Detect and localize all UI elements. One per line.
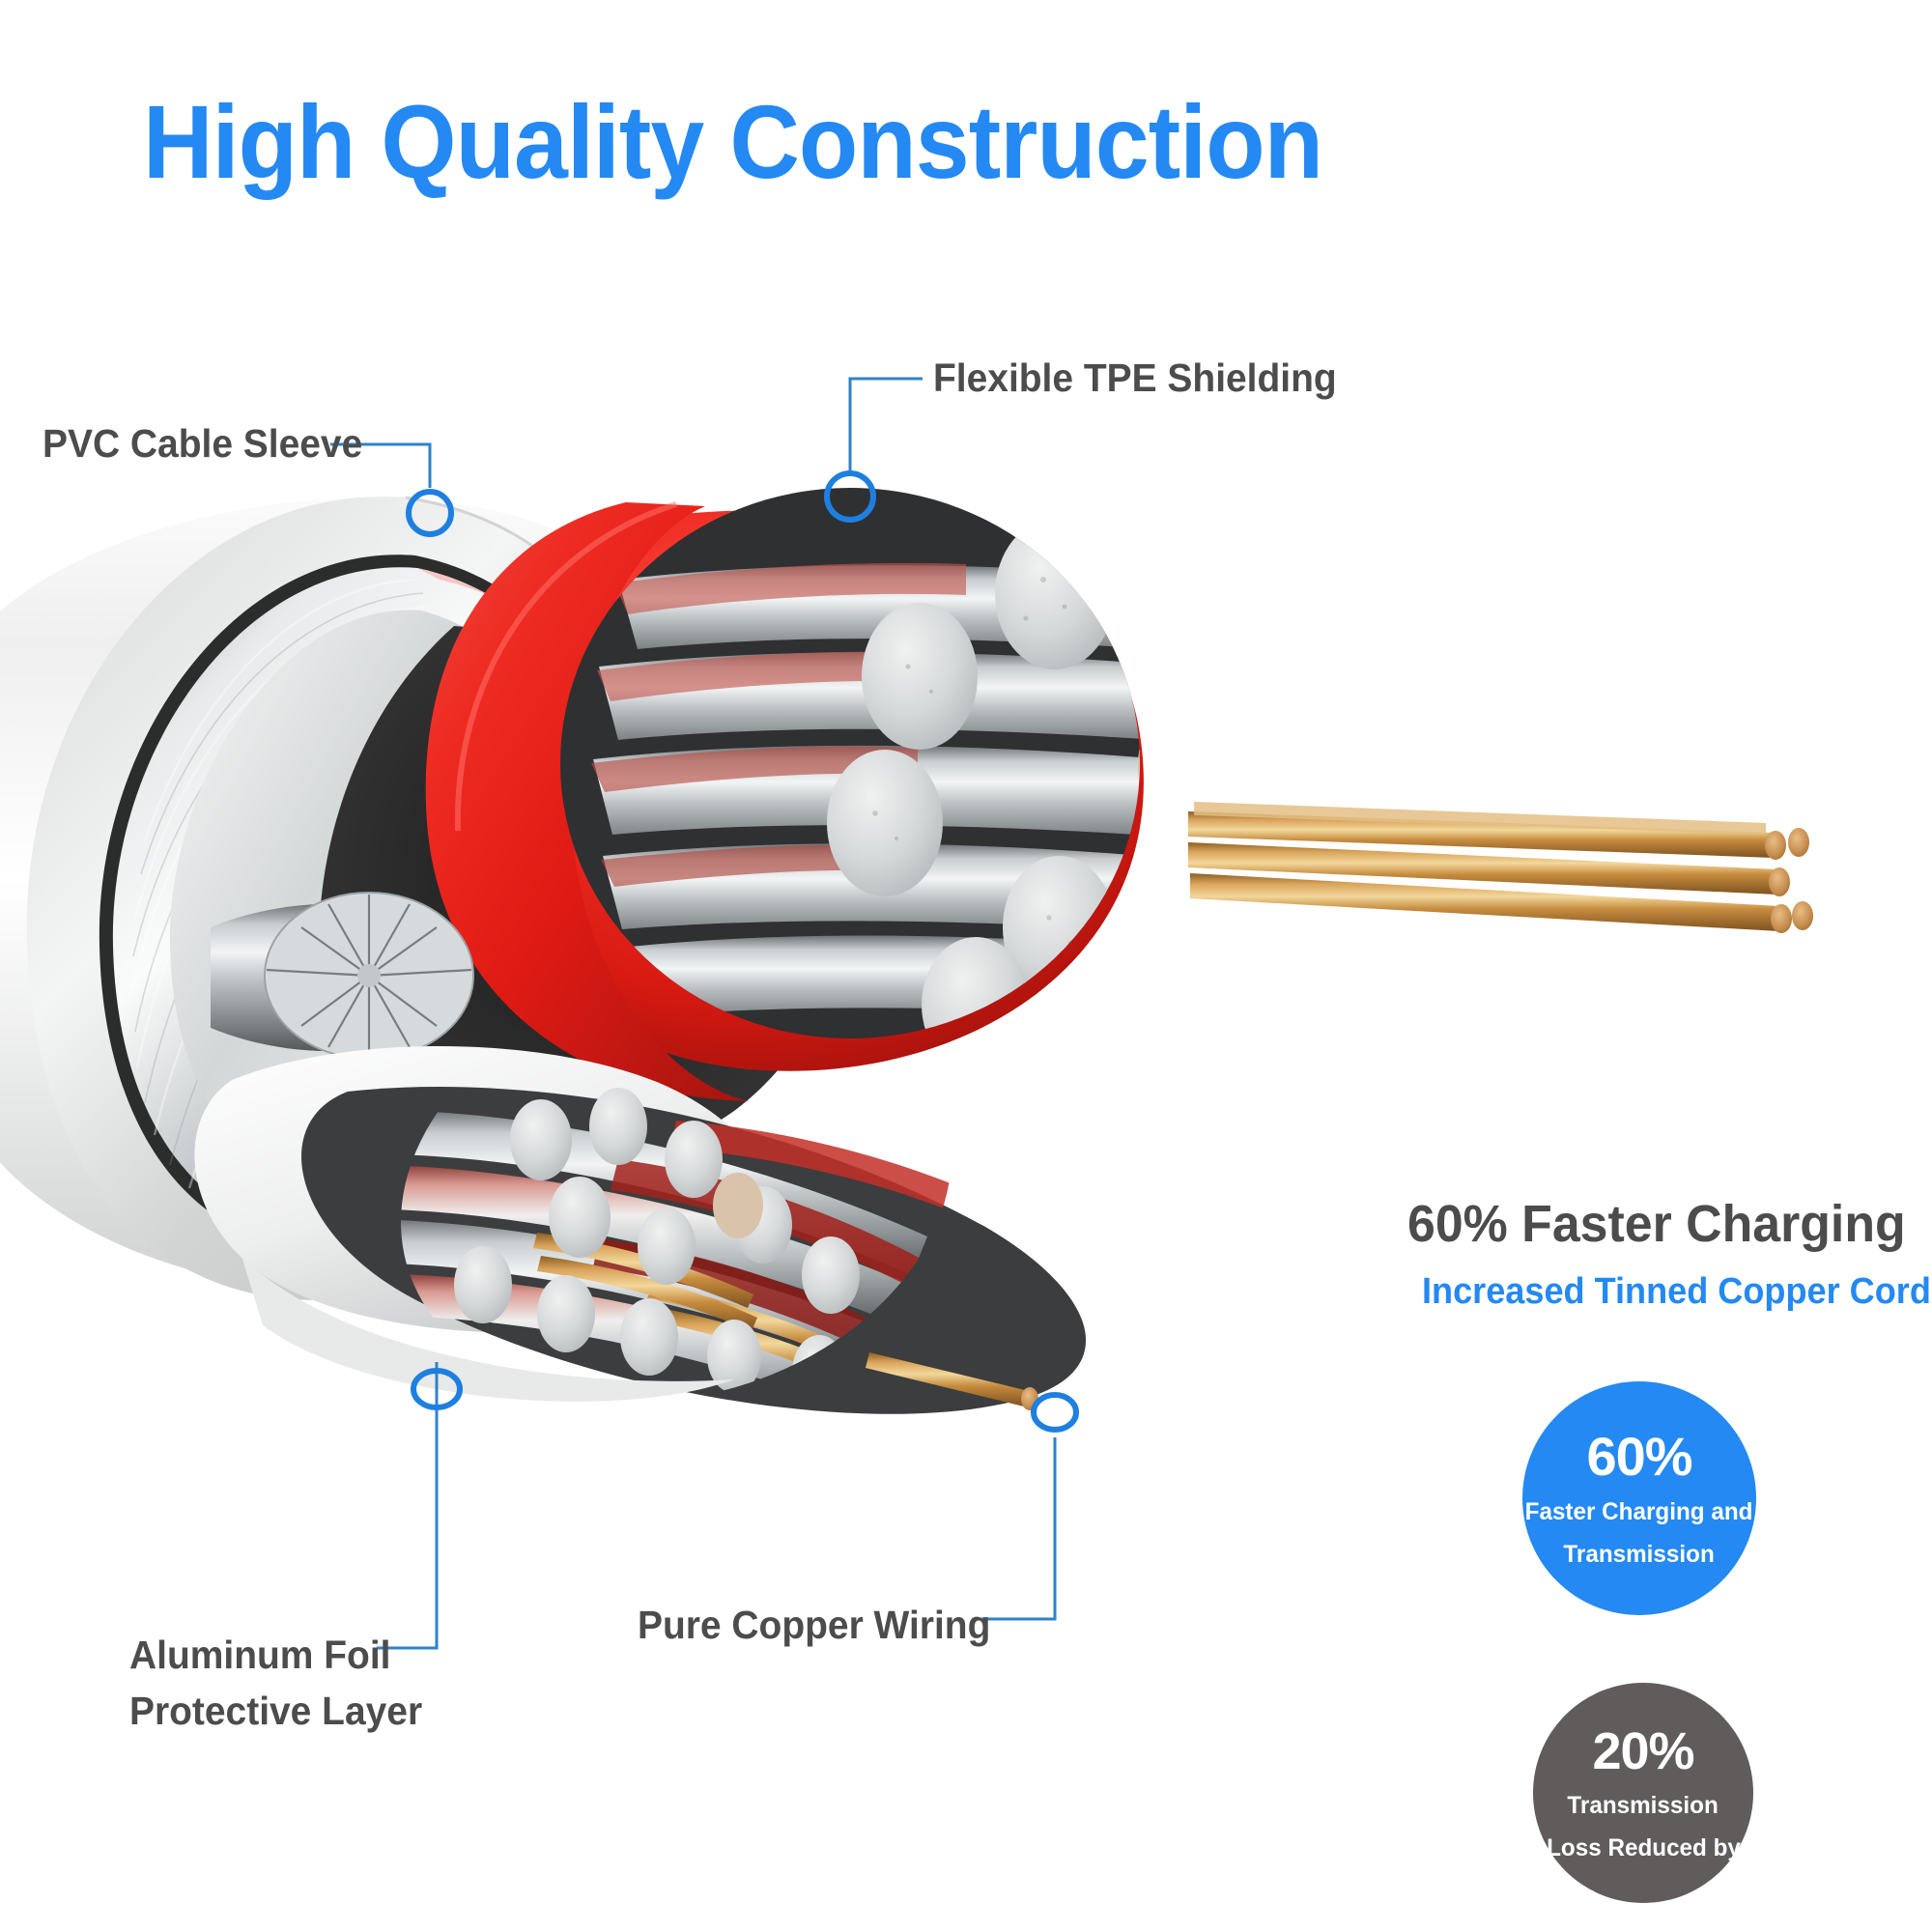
- callout-aluminum-line2: Protective Layer: [129, 1683, 422, 1739]
- transmission-loss-badge: 20% Transmission Loss Reduced by: [1533, 1683, 1753, 1903]
- callout-label-aluminum-foil-protective-layer: Aluminum Foil Protective Layer: [129, 1627, 422, 1739]
- promo-headline: 60% Faster Charging: [1407, 1194, 1906, 1254]
- transmission-loss-badge-line1: Transmission: [1568, 1794, 1719, 1818]
- promo-subheadline: Increased Tinned Copper Cord: [1422, 1271, 1931, 1313]
- transmission-loss-badge-line2: Loss Reduced by: [1547, 1836, 1741, 1861]
- marker-ring-pvc: [409, 492, 451, 534]
- callout-label-pvc-cable-sleeve: PVC Cable Sleeve: [43, 415, 362, 471]
- leader-tpe: [850, 379, 923, 471]
- callout-label-pure-copper-wiring: Pure Copper Wiring: [638, 1597, 990, 1653]
- faster-charging-badge-value: 60%: [1586, 1430, 1691, 1484]
- infographic-canvas: High Quality Construction PVC Cable Slee…: [0, 0, 1932, 1932]
- callout-label-flexible-tpe-shielding: Flexible TPE Shielding: [933, 350, 1337, 406]
- faster-charging-badge-line2: Transmission: [1564, 1543, 1715, 1567]
- marker-ring-tpe: [827, 473, 873, 520]
- leader-copper: [976, 1437, 1055, 1619]
- page-title: High Quality Construction: [143, 85, 1322, 200]
- transmission-loss-badge-value: 20%: [1592, 1725, 1693, 1777]
- faster-charging-badge: 60% Faster Charging and Transmission: [1522, 1381, 1756, 1615]
- callout-aluminum-line1: Aluminum Foil: [129, 1627, 422, 1683]
- marker-ring-copper: [1034, 1395, 1076, 1430]
- faster-charging-badge-line1: Faster Charging and: [1525, 1500, 1753, 1524]
